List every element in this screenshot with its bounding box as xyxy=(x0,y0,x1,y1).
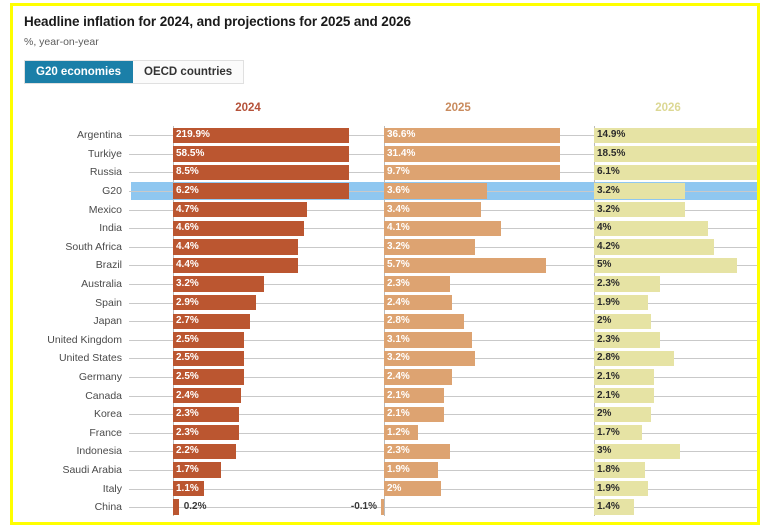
bar-value-label: 3.6% xyxy=(387,182,410,201)
bar-value-label: 1.7% xyxy=(597,424,620,443)
bar-cell-2024: 1.1% xyxy=(173,479,349,498)
bar-2025[interactable] xyxy=(384,165,560,180)
bar-cell-2026: 2% xyxy=(594,405,760,424)
bar-value-label: 58.5% xyxy=(176,145,204,164)
bar-value-label: 2.9% xyxy=(176,293,199,312)
chart-row[interactable]: Australia3.2%2.3%2.3% xyxy=(13,275,757,294)
category-label: Australia xyxy=(13,275,125,294)
bar-cell-2025: 4.1% xyxy=(384,219,560,238)
bar-cell-2025: 3.2% xyxy=(384,349,560,368)
bar-value-label: 18.5% xyxy=(597,145,625,164)
bar-cell-2026: 4% xyxy=(594,219,760,238)
chart-row[interactable]: Argentina219.9%36.6%14.9% xyxy=(13,126,757,145)
bar-value-label: 2% xyxy=(597,405,611,424)
bar-2024[interactable] xyxy=(173,499,179,514)
column-header-2026: 2026 xyxy=(573,102,760,114)
bar-cell-2026: 2% xyxy=(594,312,760,331)
page-title: Headline inflation for 2024, and project… xyxy=(24,14,411,29)
bar-cell-2026: 1.9% xyxy=(594,479,760,498)
category-label: G20 xyxy=(13,182,125,201)
category-label: India xyxy=(13,219,125,238)
category-label: Mexico xyxy=(13,200,125,219)
category-label: Japan xyxy=(13,312,125,331)
chart-row[interactable]: Saudi Arabia1.7%1.9%1.8% xyxy=(13,461,757,480)
bar-value-label: 2.8% xyxy=(597,349,620,368)
bar-cell-2024: 4.4% xyxy=(173,256,349,275)
bar-value-label: 2.7% xyxy=(176,312,199,331)
bar-cell-2025: 2.3% xyxy=(384,275,560,294)
bar-cell-2025: 3.1% xyxy=(384,331,560,350)
bar-cell-2026: 2.3% xyxy=(594,275,760,294)
bar-cell-2025: 2.3% xyxy=(384,442,560,461)
bar-cell-2026: 2.8% xyxy=(594,349,760,368)
bar-cell-2025: 2% xyxy=(384,479,560,498)
bar-value-label: 1.9% xyxy=(597,479,620,498)
bar-cell-2025: 3.2% xyxy=(384,238,560,257)
bar-value-label: 3.2% xyxy=(387,238,410,257)
bar-cell-2026: 2.1% xyxy=(594,368,760,387)
bar-cell-2024: 2.3% xyxy=(173,405,349,424)
bar-cell-2025: 2.8% xyxy=(384,312,560,331)
chart-row[interactable]: China0.2%-0.1%1.4% xyxy=(13,498,757,517)
bar-value-label: 2.1% xyxy=(597,368,620,387)
bar-value-label: 4.4% xyxy=(176,256,199,275)
bar-cell-2024: 2.2% xyxy=(173,442,349,461)
category-label: Korea xyxy=(13,405,125,424)
bar-value-label: 5.7% xyxy=(387,256,410,275)
bar-cell-2024: 2.5% xyxy=(173,331,349,350)
bar-value-label: 1.7% xyxy=(176,461,199,480)
bar-cell-2025: 2.4% xyxy=(384,368,560,387)
bar-cell-2026: 4.2% xyxy=(594,238,760,257)
chart-row[interactable]: Italy1.1%2%1.9% xyxy=(13,479,757,498)
bar-cell-2026: 3% xyxy=(594,442,760,461)
chart-row[interactable]: Spain2.9%2.4%1.9% xyxy=(13,293,757,312)
category-label: Italy xyxy=(13,479,125,498)
inflation-bar-chart: 2024 2025 2026 Argentina219.9%36.6%14.9%… xyxy=(13,96,757,522)
bar-value-label: 3.4% xyxy=(387,200,410,219)
tab-g20-economies[interactable]: G20 economies xyxy=(25,61,133,83)
bar-value-label: 14.9% xyxy=(597,126,625,145)
bar-value-label: 2.5% xyxy=(176,368,199,387)
bar-value-label: 2.3% xyxy=(597,331,620,350)
tab-oecd-countries[interactable]: OECD countries xyxy=(133,61,243,83)
bar-value-label: 3.2% xyxy=(176,275,199,294)
bar-cell-2024: 0.2% xyxy=(173,498,349,517)
baseline xyxy=(384,498,385,517)
bar-value-label: 2.1% xyxy=(597,386,620,405)
chart-row[interactable]: Turkiye58.5%31.4%18.5% xyxy=(13,145,757,164)
bar-value-label: 3.2% xyxy=(597,200,620,219)
bar-cell-2026: 2.3% xyxy=(594,331,760,350)
bar-value-label: 3.2% xyxy=(597,182,620,201)
bar-cell-2024: 2.5% xyxy=(173,349,349,368)
chart-row[interactable]: India4.6%4.1%4% xyxy=(13,219,757,238)
bar-value-label: 1.9% xyxy=(387,461,410,480)
chart-row[interactable]: United States2.5%3.2%2.8% xyxy=(13,349,757,368)
bar-cell-2024: 1.7% xyxy=(173,461,349,480)
bar-cell-2025: 3.6% xyxy=(384,182,560,201)
bar-cell-2026: 2.1% xyxy=(594,386,760,405)
bar-2026[interactable] xyxy=(594,258,737,273)
category-label: Brazil xyxy=(13,256,125,275)
bar-cell-2024: 219.9% xyxy=(173,126,349,145)
chart-row[interactable]: Japan2.7%2.8%2% xyxy=(13,312,757,331)
chart-row[interactable]: Mexico4.7%3.4%3.2% xyxy=(13,200,757,219)
bar-value-label: 6.1% xyxy=(597,163,620,182)
chart-row[interactable]: South Africa4.4%3.2%4.2% xyxy=(13,238,757,257)
bar-value-label: 2% xyxy=(387,479,401,498)
category-label: France xyxy=(13,424,125,443)
chart-row[interactable]: Korea2.3%2.1%2% xyxy=(13,405,757,424)
category-label: United Kingdom xyxy=(13,331,125,350)
bar-value-label: 2.4% xyxy=(387,293,410,312)
bar-value-label: 1.4% xyxy=(597,498,620,517)
bar-cell-2024: 2.4% xyxy=(173,386,349,405)
bar-cell-2025: -0.1% xyxy=(384,498,560,517)
chart-row[interactable]: Indonesia2.2%2.3%3% xyxy=(13,442,757,461)
bar-cell-2026: 1.7% xyxy=(594,424,760,443)
bar-value-label: 2.5% xyxy=(176,331,199,350)
column-header-2024: 2024 xyxy=(153,102,343,114)
bar-cell-2024: 4.6% xyxy=(173,219,349,238)
bar-cell-2025: 3.4% xyxy=(384,200,560,219)
bar-cell-2025: 5.7% xyxy=(384,256,560,275)
bar-cell-2025: 2.4% xyxy=(384,293,560,312)
chart-row[interactable]: United Kingdom2.5%3.1%2.3% xyxy=(13,331,757,350)
bar-cell-2026: 14.9% xyxy=(594,126,760,145)
bar-value-label: 2.3% xyxy=(387,442,410,461)
category-label: Russia xyxy=(13,163,125,182)
bar-cell-2026: 3.2% xyxy=(594,200,760,219)
category-label: Saudi Arabia xyxy=(13,461,125,480)
bar-value-label: 9.7% xyxy=(387,163,410,182)
chart-rows: Argentina219.9%36.6%14.9%Turkiye58.5%31.… xyxy=(13,126,757,516)
bar-value-label: 4.1% xyxy=(387,219,410,238)
bar-cell-2024: 58.5% xyxy=(173,145,349,164)
bar-value-label: 4.4% xyxy=(176,238,199,257)
view-tabs: G20 economies OECD countries xyxy=(24,60,244,84)
bar-value-label: 36.6% xyxy=(387,126,415,145)
bar-2025[interactable] xyxy=(381,499,384,514)
bar-value-label: 2.3% xyxy=(176,405,199,424)
bar-2024[interactable] xyxy=(173,183,349,198)
bar-value-label: 4% xyxy=(597,219,611,238)
bar-cell-2024: 2.9% xyxy=(173,293,349,312)
bar-value-label: 1.9% xyxy=(597,293,620,312)
bar-value-label: 2.3% xyxy=(176,424,199,443)
bar-cell-2024: 4.4% xyxy=(173,238,349,257)
chart-card: Headline inflation for 2024, and project… xyxy=(10,3,760,525)
bar-cell-2024: 2.5% xyxy=(173,368,349,387)
category-label: Turkiye xyxy=(13,145,125,164)
bar-value-label: 4.6% xyxy=(176,219,199,238)
chart-subtitle: %, year-on-year xyxy=(24,36,99,48)
category-label: Argentina xyxy=(13,126,125,145)
bar-2024[interactable] xyxy=(173,165,349,180)
bar-cell-2025: 2.1% xyxy=(384,386,560,405)
bar-value-label: 2.2% xyxy=(176,442,199,461)
bar-value-label: 2.3% xyxy=(597,275,620,294)
bar-cell-2025: 31.4% xyxy=(384,145,560,164)
bar-cell-2026: 6.1% xyxy=(594,163,760,182)
chart-row[interactable]: France2.3%1.2%1.7% xyxy=(13,424,757,443)
bar-value-label: 4.2% xyxy=(597,238,620,257)
bar-cell-2026: 18.5% xyxy=(594,145,760,164)
bar-cell-2026: 3.2% xyxy=(594,182,760,201)
bar-value-label: 2.1% xyxy=(387,386,410,405)
chart-row[interactable]: Russia8.5%9.7%6.1% xyxy=(13,163,757,182)
chart-row[interactable]: G206.2%3.6%3.2% xyxy=(13,182,757,201)
bar-cell-2026: 1.4% xyxy=(594,498,760,517)
category-label: Spain xyxy=(13,293,125,312)
bar-value-label: -0.1% xyxy=(351,498,377,517)
bar-value-label: 1.8% xyxy=(597,461,620,480)
category-label: China xyxy=(13,498,125,517)
bar-cell-2025: 9.7% xyxy=(384,163,560,182)
bar-value-label: 3% xyxy=(597,442,611,461)
bar-cell-2026: 1.8% xyxy=(594,461,760,480)
bar-cell-2024: 2.3% xyxy=(173,424,349,443)
bar-value-label: 8.5% xyxy=(176,163,199,182)
bar-cell-2026: 5% xyxy=(594,256,760,275)
bar-value-label: 31.4% xyxy=(387,145,415,164)
bar-value-label: 3.2% xyxy=(387,349,410,368)
bar-value-label: 2% xyxy=(597,312,611,331)
bar-cell-2025: 1.9% xyxy=(384,461,560,480)
bar-value-label: 2.5% xyxy=(176,349,199,368)
bar-cell-2024: 2.7% xyxy=(173,312,349,331)
bar-value-label: 2.1% xyxy=(387,405,410,424)
bar-value-label: 2.4% xyxy=(387,368,410,387)
chart-row[interactable]: Brazil4.4%5.7%5% xyxy=(13,256,757,275)
column-header-2025: 2025 xyxy=(363,102,553,114)
chart-row[interactable]: Germany2.5%2.4%2.1% xyxy=(13,368,757,387)
bar-cell-2024: 6.2% xyxy=(173,182,349,201)
bar-cell-2024: 8.5% xyxy=(173,163,349,182)
category-label: South Africa xyxy=(13,238,125,257)
bar-value-label: 2.3% xyxy=(387,275,410,294)
bar-value-label: 2.8% xyxy=(387,312,410,331)
bar-cell-2025: 1.2% xyxy=(384,424,560,443)
bar-value-label: 4.7% xyxy=(176,200,199,219)
bar-value-label: 219.9% xyxy=(176,126,210,145)
category-label: Canada xyxy=(13,386,125,405)
bar-cell-2026: 1.9% xyxy=(594,293,760,312)
bar-value-label: 1.1% xyxy=(176,479,199,498)
category-label: Indonesia xyxy=(13,442,125,461)
bar-value-label: 2.4% xyxy=(176,386,199,405)
bar-cell-2024: 3.2% xyxy=(173,275,349,294)
bar-cell-2025: 2.1% xyxy=(384,405,560,424)
bar-value-label: 5% xyxy=(597,256,611,275)
chart-row[interactable]: Canada2.4%2.1%2.1% xyxy=(13,386,757,405)
bar-value-label: 1.2% xyxy=(387,424,410,443)
bar-value-label: 0.2% xyxy=(184,498,207,517)
category-label: Germany xyxy=(13,368,125,387)
bar-cell-2025: 36.6% xyxy=(384,126,560,145)
bar-value-label: 6.2% xyxy=(176,182,199,201)
category-label: United States xyxy=(13,349,125,368)
bar-cell-2024: 4.7% xyxy=(173,200,349,219)
bar-value-label: 3.1% xyxy=(387,331,410,350)
